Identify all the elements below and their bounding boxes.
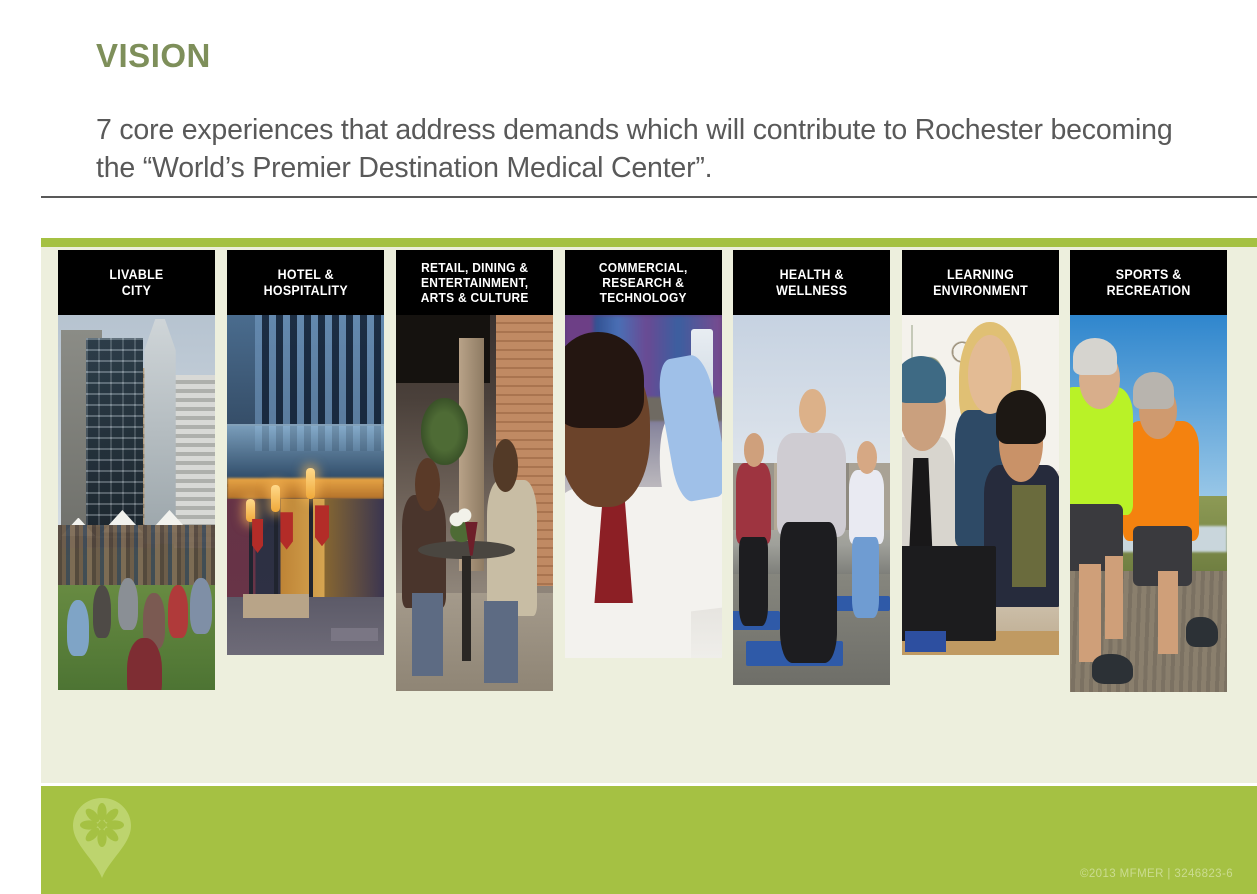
experience-card-hotel-hospitality[interactable]: HOTEL & HOSPITALITY (227, 250, 384, 655)
runner-green-leg-back (1105, 556, 1124, 639)
textbook (905, 631, 946, 651)
experiences-board: LIVABLE CITY (41, 238, 1257, 783)
card-header-sports-recreation: SPORTS & RECREATION (1070, 250, 1227, 315)
street-lamp-1 (246, 499, 255, 523)
participant-left-top (736, 463, 771, 544)
woman-jeans (412, 593, 443, 676)
runner-orange-hair (1133, 372, 1174, 410)
building-right (174, 375, 215, 548)
street-lamp-3 (306, 468, 315, 499)
runner-orange-leg (1158, 571, 1178, 654)
slide: VISION 7 core experiences that address d… (0, 0, 1257, 894)
copyright-text: ©2013 MFMER | 3246823-6 (1080, 868, 1233, 880)
card-label-commercial-research: COMMERCIAL, RESEARCH & TECHNOLOGY (599, 260, 688, 306)
person-seated-foreground (127, 638, 162, 691)
participant-left-legs (739, 537, 767, 626)
cafe-table-base (462, 556, 471, 661)
student-right-tshirt (1012, 485, 1047, 587)
card-header-livable-city: LIVABLE CITY (58, 250, 215, 315)
card-photo-livable-city (58, 315, 215, 690)
card-header-commercial-research: COMMERCIAL, RESEARCH & TECHNOLOGY (565, 250, 722, 315)
street-lamp-2 (271, 485, 280, 512)
footer-bar: ©2013 MFMER | 3246823-6 (41, 786, 1257, 894)
card-header-learning-environment: LEARNING ENVIRONMENT (902, 250, 1059, 315)
planter-bench (243, 594, 309, 618)
experience-card-list: LIVABLE CITY (41, 238, 1257, 783)
card-label-hotel-hospitality: HOTEL & HOSPITALITY (263, 267, 347, 299)
instructor-legs (780, 522, 837, 663)
lamp-pole-3 (309, 485, 313, 601)
student-left-beanie (902, 356, 946, 404)
card-label-sports-recreation: SPORTS & RECREATION (1107, 267, 1191, 299)
person-seated-1 (67, 600, 89, 656)
title-divider (41, 196, 1257, 198)
experience-card-health-wellness[interactable]: HEALTH & WELLNESS (733, 250, 890, 685)
lamp-pole-2 (274, 499, 278, 601)
experience-card-sports-recreation[interactable]: SPORTS & RECREATION (1070, 250, 1227, 692)
participant-left-head (744, 433, 764, 466)
participant-right-legs (852, 537, 879, 618)
runner-green-shoe (1092, 654, 1133, 684)
instructor-head (799, 389, 826, 433)
person-seated-2 (93, 585, 112, 638)
laptop (902, 546, 996, 641)
experience-card-commercial-research[interactable]: COMMERCIAL, RESEARCH & TECHNOLOGY (565, 250, 722, 658)
experience-card-retail-dining[interactable]: RETAIL, DINING & ENTERTAINMENT, ARTS & C… (396, 250, 553, 691)
bench-right (331, 628, 378, 642)
researcher-hair (565, 332, 644, 428)
card-photo-retail-dining (396, 315, 553, 691)
card-label-livable-city: LIVABLE CITY (109, 267, 163, 299)
man-jeans (484, 601, 519, 684)
person-seated-6 (190, 578, 212, 634)
card-header-health-wellness: HEALTH & WELLNESS (733, 250, 890, 315)
card-header-retail-dining: RETAIL, DINING & ENTERTAINMENT, ARTS & C… (396, 250, 553, 315)
runner-green-leg-front (1079, 564, 1101, 662)
experience-card-livable-city[interactable]: LIVABLE CITY (58, 250, 215, 690)
card-photo-sports-recreation (1070, 315, 1227, 692)
card-label-health-wellness: HEALTH & WELLNESS (776, 267, 847, 299)
student-right-hair (996, 390, 1046, 444)
runner-green-hair (1073, 338, 1117, 376)
participant-right-top (849, 470, 884, 544)
glass-tower (86, 338, 143, 548)
crowd-band (58, 525, 215, 585)
woman-head (415, 458, 440, 511)
person-seated-5 (168, 585, 188, 638)
runner-orange-shoe (1186, 617, 1217, 647)
card-label-retail-dining: RETAIL, DINING & ENTERTAINMENT, ARTS & C… (421, 260, 529, 306)
card-photo-commercial-research (565, 315, 722, 658)
card-photo-learning-environment (902, 315, 1059, 655)
hanging-plant (421, 398, 468, 466)
experience-card-learning-environment[interactable]: LEARNING ENVIRONMENT (902, 250, 1059, 655)
slide-subtitle: 7 core experiences that address demands … (96, 112, 1216, 187)
spire-tower (144, 319, 175, 544)
card-header-hotel-hospitality: HOTEL & HOSPITALITY (227, 250, 384, 315)
mayo-clinic-pin-logo (71, 796, 133, 880)
page-title: VISION (96, 38, 211, 74)
card-label-learning-environment: LEARNING ENVIRONMENT (933, 267, 1028, 299)
card-photo-hotel-hospitality (227, 315, 384, 655)
card-photo-health-wellness (733, 315, 890, 685)
person-seated-3 (118, 578, 138, 631)
